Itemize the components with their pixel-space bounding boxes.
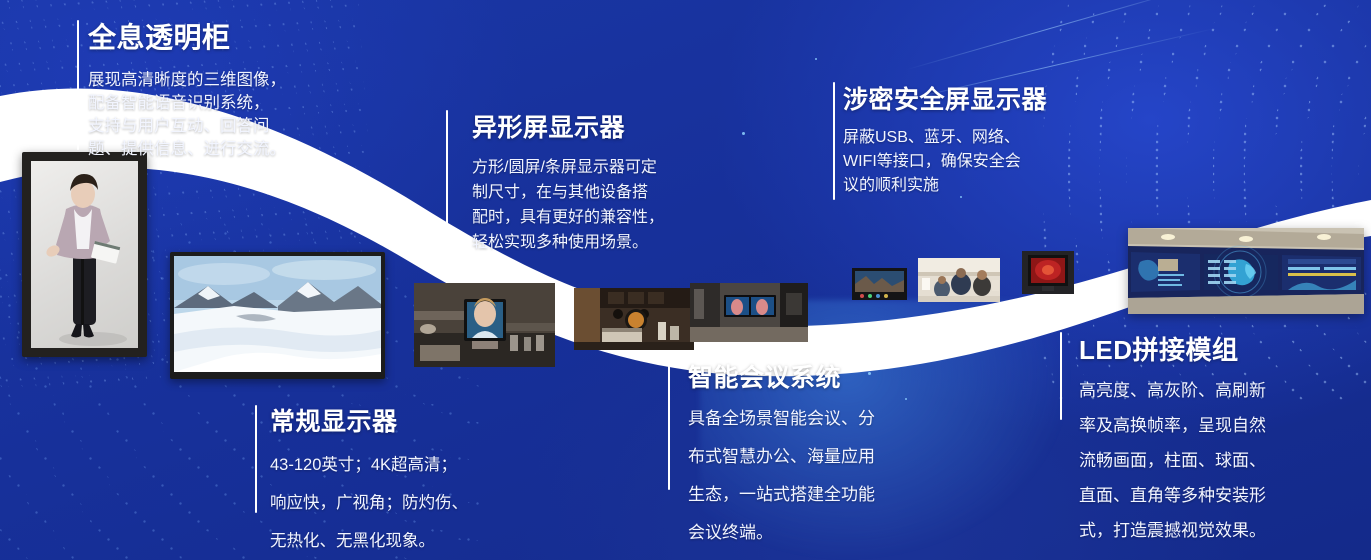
block-line: 支持与用户互动、回答问 xyxy=(88,115,286,138)
accent-bar xyxy=(668,362,670,490)
block-line: 制尺寸，在与其他设备搭 xyxy=(472,180,664,205)
text-block-secure-screen-display: 涉密安全屏显示器 屏蔽USB、蓝牙、网络、 WIFI等接口，确保安全会 议的顺利… xyxy=(843,80,1047,198)
block-line: 无热化、无黑化现象。 xyxy=(270,522,468,560)
accent-bar xyxy=(1060,332,1062,420)
retail-scene-1-image xyxy=(414,283,555,367)
retail-display-photo-3 xyxy=(690,283,808,342)
block-line: 议的顺利实施 xyxy=(843,174,1047,198)
accent-bar xyxy=(446,110,448,250)
accent-bar xyxy=(255,405,257,513)
block-body: 屏蔽USB、蓝牙、网络、 WIFI等接口，确保安全会 议的顺利实施 xyxy=(843,126,1047,198)
block-title: LED拼接模组 xyxy=(1079,330,1266,367)
retail-display-photo-2 xyxy=(574,288,694,350)
block-line: 生态，一站式搭建全功能 xyxy=(688,476,875,514)
block-line: 流畅画面，柱面、球面、 xyxy=(1079,443,1266,478)
block-line: 直面、直角等多种安装形 xyxy=(1079,478,1266,513)
red-monitor-image xyxy=(1022,251,1074,294)
holographic-cabinet-photo xyxy=(22,152,147,357)
text-block-led-tiling-module: LED拼接模组 高亮度、高灰阶、高刷新 率及高换帧率，呈现自然 流畅画面，柱面、… xyxy=(1079,330,1266,548)
red-monitor-photo xyxy=(1022,251,1074,294)
block-line: 43-120英寸；4K超高清； xyxy=(270,446,468,484)
standard-tv-photo xyxy=(170,252,385,379)
product-showcase-banner: 全息透明柜 展现高清晰度的三维图像， 配备智能语音识别系统， 支持与用户互动、回… xyxy=(0,0,1371,560)
text-block-smart-conference-system: 智能会议系统 具备全场景智能会议、分 布式智慧办公、海量应用 生态，一站式搭建全… xyxy=(688,358,875,552)
block-line: 具备全场景智能会议、分 xyxy=(688,400,875,438)
text-block-standard-display: 常规显示器 43-120英寸；4K超高清； 响应快，广视角；防灼伤、 无热化、无… xyxy=(270,402,468,560)
accent-bar xyxy=(77,20,79,150)
block-body: 方形/圆屏/条屏显示器可定 制尺寸，在与其他设备搭 配时，具有更好的兼容性， 轻… xyxy=(472,155,664,255)
retail-display-photo-1 xyxy=(414,283,555,367)
block-body: 具备全场景智能会议、分 布式智慧办公、海量应用 生态，一站式搭建全功能 会议终端… xyxy=(688,400,875,552)
text-block-holographic-cabinet: 全息透明柜 展现高清晰度的三维图像， 配备智能语音识别系统， 支持与用户互动、回… xyxy=(88,16,286,161)
block-line: 题、提供信息、进行交流。 xyxy=(88,138,286,161)
block-line: 方形/圆屏/条屏显示器可定 xyxy=(472,155,664,180)
led-videowall-image xyxy=(1128,228,1364,314)
block-title: 涉密安全屏显示器 xyxy=(843,80,1047,116)
block-line: 高亮度、高灰阶、高刷新 xyxy=(1079,373,1266,408)
block-line: 布式智慧办公、海量应用 xyxy=(688,438,875,476)
holographic-person-image xyxy=(31,161,138,348)
conference-scene-image xyxy=(918,258,1000,302)
block-line: 式，打造震撼视觉效果。 xyxy=(1079,513,1266,548)
block-title: 全息透明柜 xyxy=(88,16,286,56)
block-line: 会议终端。 xyxy=(688,514,875,552)
block-body: 43-120英寸；4K超高清； 响应快，广视角；防灼伤、 无热化、无黑化现象。 xyxy=(270,446,468,560)
accent-bar xyxy=(833,82,835,200)
block-line: 屏蔽USB、蓝牙、网络、 xyxy=(843,126,1047,150)
snow-mountain-image xyxy=(174,256,381,372)
retail-scene-2-image xyxy=(574,288,694,350)
block-body: 展现高清晰度的三维图像， 配备智能语音识别系统， 支持与用户互动、回答问 题、提… xyxy=(88,69,286,161)
block-title: 智能会议系统 xyxy=(688,358,875,394)
text-block-shaped-screen-display: 异形屏显示器 方形/圆屏/条屏显示器可定 制尺寸，在与其他设备搭 配时，具有更好… xyxy=(472,108,664,255)
retail-scene-3-image xyxy=(690,283,808,342)
block-line: 响应快，广视角；防灼伤、 xyxy=(270,484,468,522)
mini-display-photo xyxy=(852,268,907,300)
block-title: 异形屏显示器 xyxy=(472,108,664,144)
block-title: 常规显示器 xyxy=(270,402,468,438)
block-line: 配时，具有更好的兼容性， xyxy=(472,205,664,230)
led-videowall-photo xyxy=(1128,228,1364,314)
conference-photo xyxy=(918,258,1000,302)
block-line: 配备智能语音识别系统， xyxy=(88,92,286,115)
block-line: WIFI等接口，确保安全会 xyxy=(843,150,1047,174)
block-line: 率及高换帧率，呈现自然 xyxy=(1079,408,1266,443)
block-line: 展现高清晰度的三维图像， xyxy=(88,69,286,92)
block-line: 轻松实现多种使用场景。 xyxy=(472,230,664,255)
block-body: 高亮度、高灰阶、高刷新 率及高换帧率，呈现自然 流畅画面，柱面、球面、 直面、直… xyxy=(1079,373,1266,548)
mini-display-image xyxy=(852,268,907,300)
